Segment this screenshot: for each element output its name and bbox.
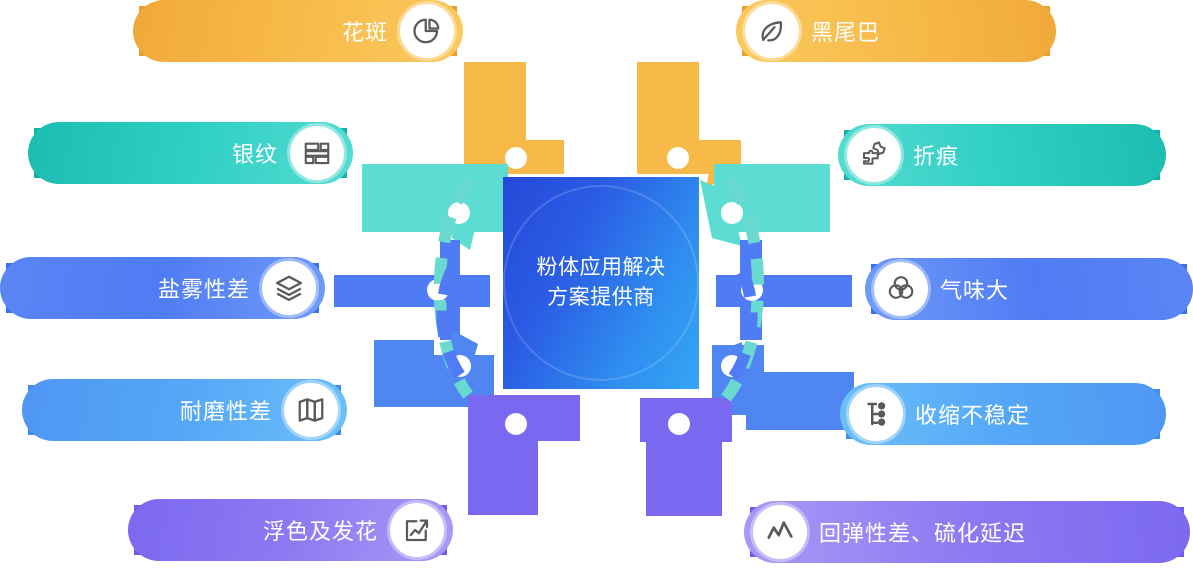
connector-arm-right-5 bbox=[640, 398, 732, 516]
node-right-3[interactable]: 气味大 bbox=[865, 258, 1193, 320]
layers-icon bbox=[262, 261, 316, 315]
recycle-icon bbox=[874, 262, 928, 316]
pill-body: 回弹性差、硫化延迟 bbox=[744, 501, 1190, 563]
node-left-4[interactable]: 耐磨性差 bbox=[22, 379, 347, 441]
node-label: 盐雾性差 bbox=[158, 272, 250, 304]
pill-body: 花斑 bbox=[133, 0, 463, 62]
connector-arm-left-5 bbox=[468, 395, 580, 515]
sitemap-icon bbox=[849, 387, 903, 441]
node-left-3[interactable]: 盐雾性差 bbox=[0, 257, 325, 319]
pill-body: 折痕 bbox=[838, 124, 1166, 186]
hub-title: 粉体应用解决 方案提供商 bbox=[503, 253, 699, 313]
pill-body: 盐雾性差 bbox=[0, 257, 325, 319]
pill-body: 气味大 bbox=[865, 258, 1193, 320]
puzzle-icon bbox=[847, 128, 901, 182]
node-left-2[interactable]: 银纹 bbox=[28, 122, 353, 184]
node-right-1[interactable]: 黑尾巴 bbox=[736, 0, 1056, 62]
node-label: 黑尾巴 bbox=[811, 15, 880, 47]
connector-arm-right-2 bbox=[700, 164, 830, 246]
leaf-icon bbox=[745, 4, 799, 58]
node-right-4[interactable]: 收缩不稳定 bbox=[840, 383, 1166, 445]
book-map-icon bbox=[284, 383, 338, 437]
node-label: 气味大 bbox=[940, 273, 1009, 305]
trend-box-icon bbox=[390, 503, 444, 557]
node-left-5[interactable]: 浮色及发花 bbox=[128, 499, 453, 561]
pill-body: 黑尾巴 bbox=[736, 0, 1056, 62]
pie-chart-icon bbox=[400, 4, 454, 58]
node-label: 浮色及发花 bbox=[263, 514, 378, 546]
node-left-1[interactable]: 花斑 bbox=[133, 0, 463, 62]
center-hub[interactable]: 粉体应用解决 方案提供商 bbox=[503, 177, 699, 389]
node-label: 耐磨性差 bbox=[180, 394, 272, 426]
connector-arm-left-3 bbox=[334, 240, 490, 340]
line-chart-icon bbox=[753, 505, 807, 559]
pill-body: 浮色及发花 bbox=[128, 499, 453, 561]
pill-body: 银纹 bbox=[28, 122, 353, 184]
pill-body: 耐磨性差 bbox=[22, 379, 347, 441]
infographic-canvas: 粉体应用解决 方案提供商 花斑 银纹 bbox=[0, 0, 1193, 577]
connector-arm-left-2 bbox=[362, 164, 508, 250]
node-label: 折痕 bbox=[913, 139, 959, 171]
brick-wall-icon bbox=[290, 126, 344, 180]
node-label: 回弹性差、硫化延迟 bbox=[819, 516, 1026, 548]
node-label: 花斑 bbox=[342, 15, 388, 47]
node-label: 银纹 bbox=[232, 137, 278, 169]
connector-arm-right-3 bbox=[716, 240, 852, 340]
pill-body: 收缩不稳定 bbox=[840, 383, 1166, 445]
node-label: 收缩不稳定 bbox=[915, 398, 1030, 430]
node-right-2[interactable]: 折痕 bbox=[838, 124, 1166, 186]
node-right-5[interactable]: 回弹性差、硫化延迟 bbox=[744, 501, 1190, 563]
